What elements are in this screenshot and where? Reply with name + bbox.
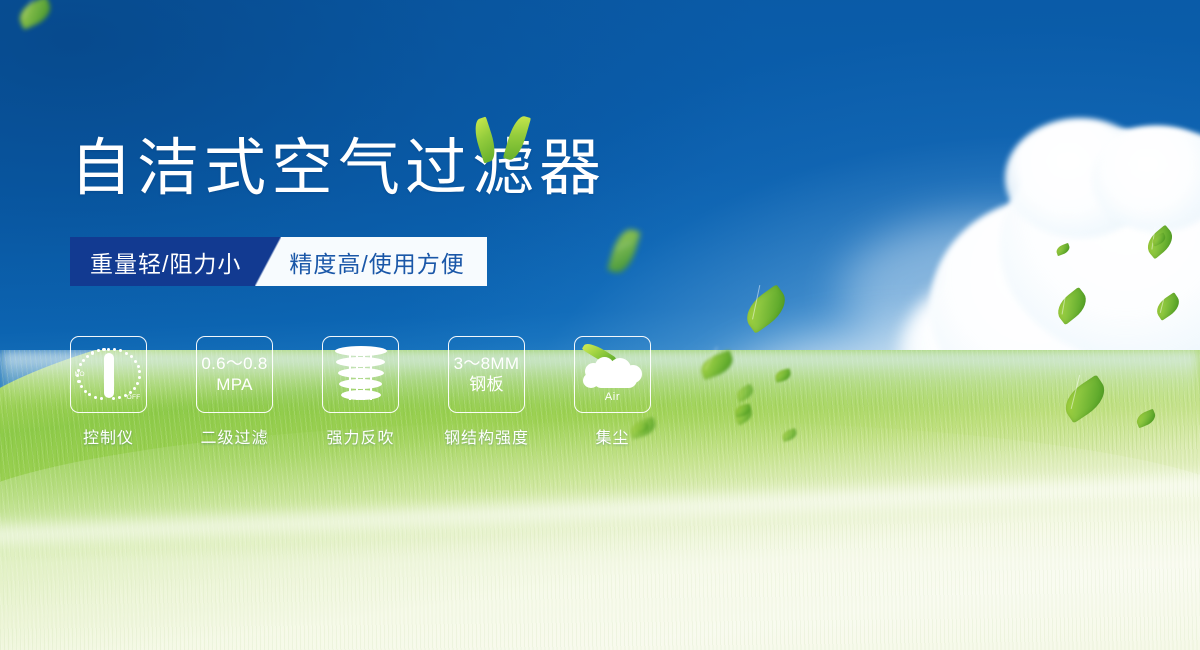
steel-thickness: 3～8MM (454, 354, 520, 374)
feature-label: 控制仪 (83, 424, 134, 448)
pressure-text-icon: 0.6～0.8 MPA (196, 336, 273, 413)
feature-item-controller[interactable]: NO OFF 控制仪 (70, 336, 147, 448)
steel-plate-text-icon: 3～8MM 钢板 (448, 336, 525, 413)
gauge-needle (104, 353, 114, 398)
subtitle-divider (255, 237, 281, 286)
dust-cloud-icon: Air (574, 336, 651, 413)
air-label: Air (583, 391, 643, 403)
feature-item-steel-strength[interactable]: 3～8MM 钢板 钢结构强度 (448, 336, 525, 448)
subtitle-left: 重量轻/阻力小 (70, 237, 255, 286)
feature-item-back-blow[interactable]: 强力反吹 (322, 336, 399, 448)
gauge-label-no: NO (75, 371, 85, 378)
feature-label: 强力反吹 (326, 424, 394, 448)
pressure-unit: MPA (216, 375, 252, 395)
cartridge-shape (335, 346, 387, 404)
subtitle-right: 精度高/使用方便 (281, 237, 486, 286)
feature-item-dust-collection[interactable]: Air 集尘 (574, 336, 651, 448)
feature-label: 集尘 (595, 424, 629, 448)
feature-list: NO OFF 控制仪 0.6～0.8 MPA 二级过滤 (70, 336, 651, 448)
gauge-dial: NO OFF (75, 344, 143, 406)
dust-cloud-shape: Air (583, 349, 643, 401)
feature-item-two-stage-filter[interactable]: 0.6～0.8 MPA 二级过滤 (196, 336, 273, 448)
pressure-range: 0.6～0.8 (201, 354, 267, 374)
banner-title: 自洁式空气过滤器 (70, 138, 606, 200)
feature-label: 二级过滤 (200, 424, 268, 448)
gauge-label-off: OFF (127, 394, 141, 401)
subtitle-banner: 重量轻/阻力小 精度高/使用方便 (70, 237, 487, 286)
steel-plate-word: 钢板 (469, 375, 504, 395)
filter-cartridge-icon (322, 336, 399, 413)
product-hero-banner: 自洁式空气过滤器 重量轻/阻力小 精度高/使用方便 (0, 0, 1200, 650)
feature-label: 钢结构强度 (444, 424, 529, 448)
gauge-icon: NO OFF (70, 336, 147, 413)
